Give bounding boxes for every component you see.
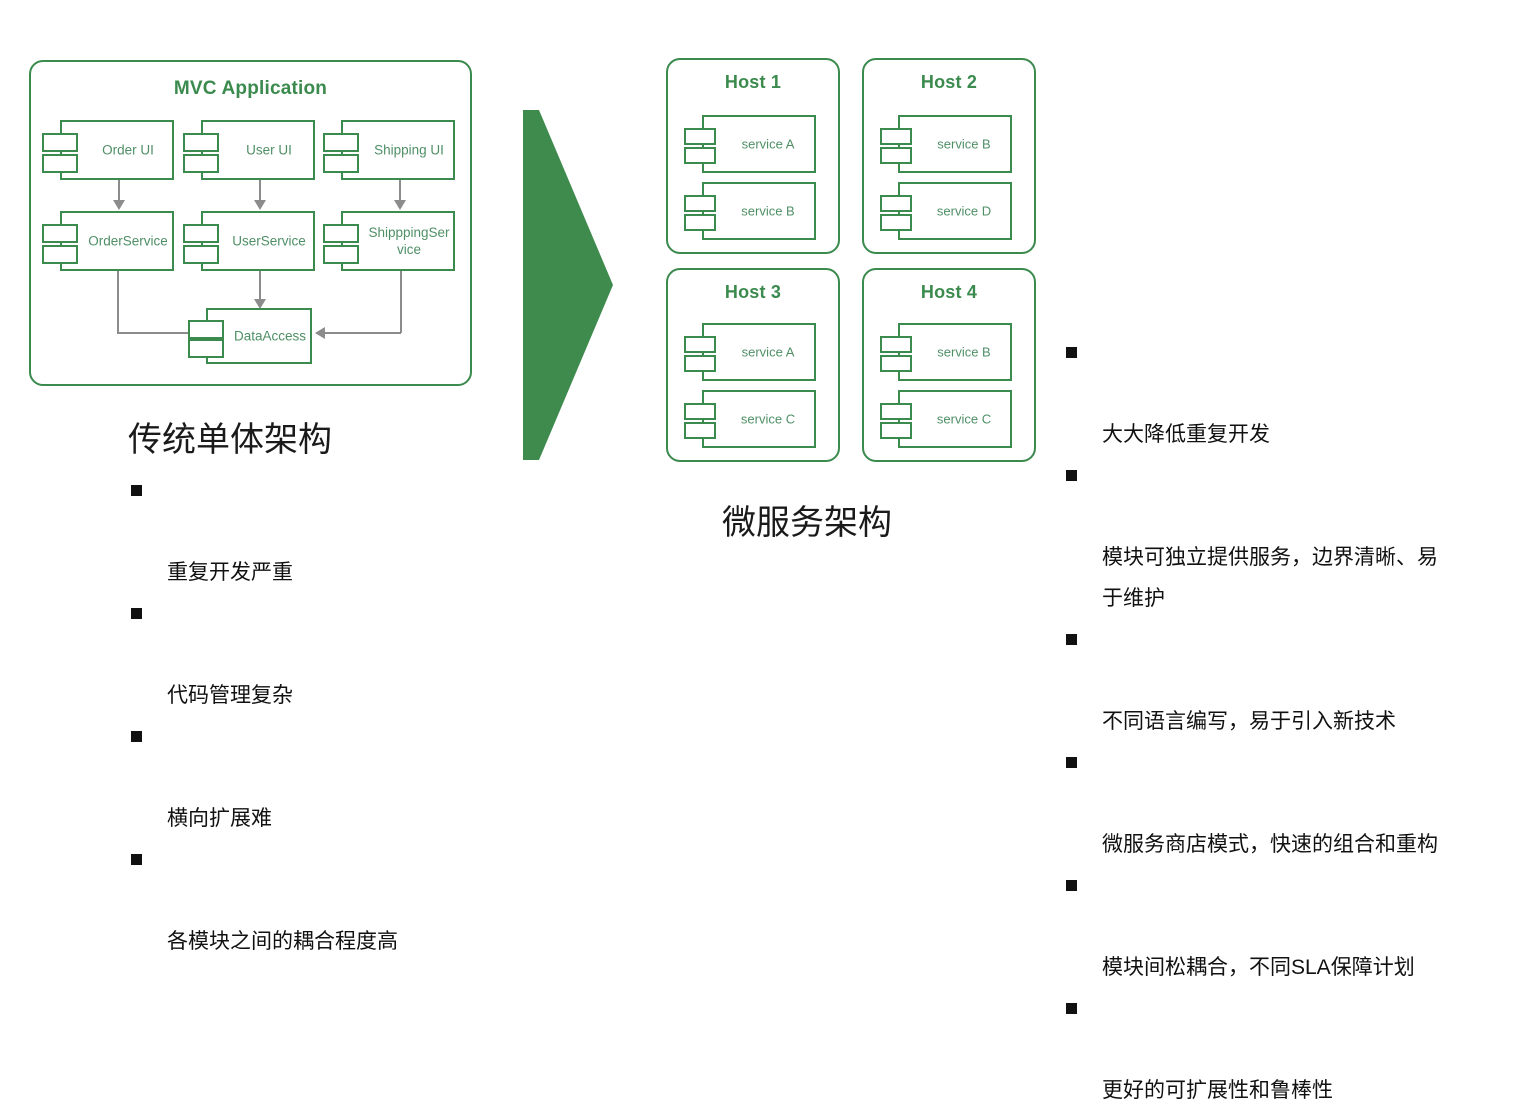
component-service-host3-0[interactable]: service A	[684, 323, 816, 381]
square-bullet-icon	[131, 731, 142, 742]
list-item-text: 代码管理复杂	[167, 684, 293, 707]
square-bullet-icon	[131, 485, 142, 496]
component-label: service A	[724, 136, 812, 153]
component-order-ui[interactable]: Order UI	[42, 120, 174, 180]
component-service-host2-1[interactable]: service D	[880, 182, 1012, 240]
component-label: service B	[920, 344, 1008, 361]
component-tab-upper	[684, 403, 716, 420]
component-tab-lower	[183, 154, 219, 173]
component-tab-upper	[880, 195, 912, 212]
connector-orderservice-to-dataaccess-horizontal	[117, 332, 194, 334]
arrowhead-left	[315, 327, 325, 339]
component-service-host4-1[interactable]: service C	[880, 390, 1012, 448]
connector-userservice-to-dataaccess	[259, 271, 261, 301]
connector-user-ui-to-userservice	[259, 180, 261, 202]
component-tab-upper	[42, 133, 78, 152]
component-tab-lower	[684, 422, 716, 439]
component-label: service A	[724, 344, 812, 361]
component-tab-upper	[684, 336, 716, 353]
monolith-bullet-list: 重复开发严重 代码管理复杂 横向扩展难 各模块之间的耦合程度高	[131, 470, 511, 962]
arrowhead-down	[113, 200, 125, 210]
component-tab-lower	[323, 245, 359, 264]
host-title: Host 4	[864, 282, 1034, 303]
component-label: UserService	[227, 233, 311, 250]
host-title: Host 1	[668, 72, 838, 93]
component-service-host4-0[interactable]: service B	[880, 323, 1012, 381]
square-bullet-icon	[1066, 880, 1077, 891]
component-label: User UI	[227, 142, 311, 159]
component-shipping-ui[interactable]: Shipping UI	[323, 120, 455, 180]
square-bullet-icon	[1066, 757, 1077, 768]
component-tab-upper	[188, 320, 224, 339]
mvc-application-title: MVC Application	[31, 78, 470, 100]
component-tab-upper	[880, 403, 912, 420]
square-bullet-icon	[1066, 634, 1077, 645]
component-label: Shipping UI	[367, 142, 451, 159]
connector-shippingservice-to-dataaccess-horizontal	[323, 332, 401, 334]
component-label: DataAccess	[232, 328, 308, 345]
list-item: 大大降低重复开发	[1066, 332, 1506, 455]
list-item: 重复开发严重	[131, 470, 511, 593]
component-tab-lower	[42, 154, 78, 173]
connector-orderservice-to-dataaccess-vertical	[117, 271, 119, 333]
component-tab-lower	[323, 154, 359, 173]
component-tab-lower	[684, 355, 716, 372]
monolith-heading: 传统单体架构	[128, 412, 332, 461]
component-tab-lower	[880, 422, 912, 439]
list-item: 模块间松耦合，不同SLA保障计划	[1066, 865, 1506, 988]
list-item-text: 横向扩展难	[167, 807, 272, 830]
connector-order-ui-to-orderservice	[118, 180, 120, 202]
host-title: Host 2	[864, 72, 1034, 93]
component-order-service[interactable]: OrderService	[42, 211, 174, 271]
square-bullet-icon	[1066, 470, 1077, 481]
component-label: service D	[920, 203, 1008, 220]
component-tab-lower	[880, 147, 912, 164]
square-bullet-icon	[1066, 347, 1077, 358]
square-bullet-icon	[1066, 1003, 1077, 1014]
list-item: 模块可独立提供服务，边界清晰、易 于维护	[1066, 455, 1506, 619]
arrowhead-down	[394, 200, 406, 210]
list-item: 横向扩展难	[131, 716, 511, 839]
component-label: service C	[920, 411, 1008, 428]
square-bullet-icon	[131, 854, 142, 865]
arrowhead-down	[254, 200, 266, 210]
component-tab-upper	[684, 195, 716, 212]
component-tab-lower	[188, 339, 224, 358]
component-user-service[interactable]: UserService	[183, 211, 315, 271]
component-label: service C	[724, 411, 812, 428]
square-bullet-icon	[131, 608, 142, 619]
component-label: service B	[920, 136, 1008, 153]
component-service-host1-1[interactable]: service B	[684, 182, 816, 240]
list-item-text: 模块间松耦合，不同SLA保障计划	[1102, 956, 1415, 979]
list-item: 各模块之间的耦合程度高	[131, 839, 511, 962]
component-tab-lower	[880, 214, 912, 231]
component-service-host2-0[interactable]: service B	[880, 115, 1012, 173]
component-tab-lower	[42, 245, 78, 264]
microservices-heading: 微服务架构	[722, 495, 892, 544]
component-label: ShipppingSer vice	[367, 224, 451, 258]
connector-shipping-ui-to-shippingservice	[399, 180, 401, 202]
host-title: Host 3	[668, 282, 838, 303]
component-user-ui[interactable]: User UI	[183, 120, 315, 180]
component-tab-lower	[684, 147, 716, 164]
component-label: service B	[724, 203, 812, 220]
component-tab-upper	[880, 336, 912, 353]
connector-shippingservice-to-dataaccess-vertical	[400, 271, 402, 333]
right-chevron-arrow	[523, 110, 613, 460]
list-item-text: 更好的可扩展性和鲁棒性	[1102, 1079, 1333, 1102]
list-item-text: 重复开发严重	[167, 561, 293, 584]
component-tab-upper	[183, 224, 219, 243]
list-item-text: 微服务商店模式，快速的组合和重构	[1102, 833, 1438, 856]
component-label: OrderService	[86, 233, 170, 250]
component-shipping-service[interactable]: ShipppingSer vice	[323, 211, 455, 271]
component-label: Order UI	[86, 142, 170, 159]
component-service-host3-1[interactable]: service C	[684, 390, 816, 448]
list-item-text: 大大降低重复开发	[1102, 423, 1270, 446]
component-tab-upper	[880, 128, 912, 145]
component-service-host1-0[interactable]: service A	[684, 115, 816, 173]
component-tab-lower	[684, 214, 716, 231]
component-tab-upper	[42, 224, 78, 243]
component-tab-lower	[880, 355, 912, 372]
list-item: 微服务商店模式，快速的组合和重构	[1066, 742, 1506, 865]
component-tab-upper	[323, 224, 359, 243]
microservices-bullet-list: 大大降低重复开发 模块可独立提供服务，边界清晰、易 于维护 不同语言编写，易于引…	[1066, 332, 1506, 1111]
component-tab-upper	[323, 133, 359, 152]
component-data-access[interactable]: DataAccess	[188, 308, 312, 364]
list-item: 更好的可扩展性和鲁棒性	[1066, 988, 1506, 1111]
component-tab-lower	[183, 245, 219, 264]
component-tab-upper	[684, 128, 716, 145]
list-item: 不同语言编写，易于引入新技术	[1066, 619, 1506, 742]
diagram-canvas: MVC Application Order UI User UI Shippin…	[0, 0, 1516, 659]
component-tab-upper	[183, 133, 219, 152]
list-item-text: 模块可独立提供服务，边界清晰、易 于维护	[1102, 546, 1438, 610]
list-item-text: 各模块之间的耦合程度高	[167, 930, 398, 953]
list-item-text: 不同语言编写，易于引入新技术	[1102, 710, 1396, 733]
list-item: 代码管理复杂	[131, 593, 511, 716]
